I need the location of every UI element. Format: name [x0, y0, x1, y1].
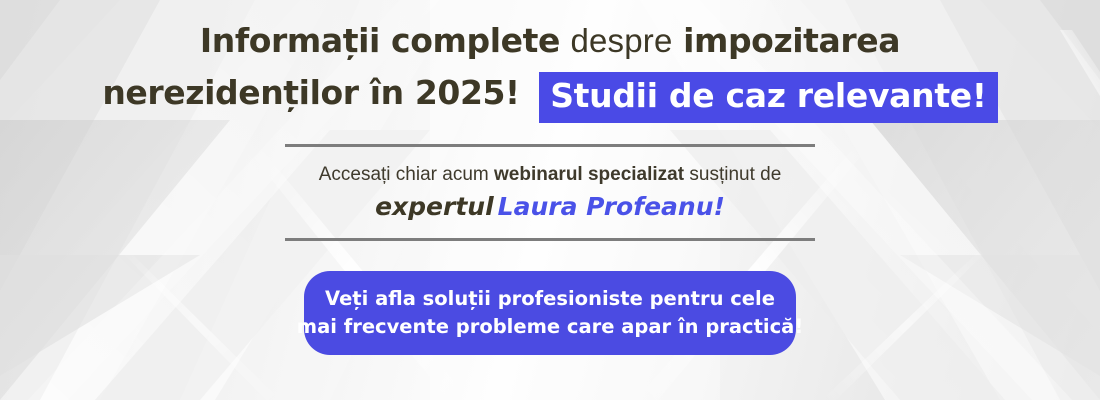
banner-content: Informații complete despre impozitarea n…: [0, 0, 1100, 400]
subtitle-text-bold: webinarul specializat: [494, 164, 684, 185]
promo-banner: Informații complete despre impozitarea n…: [0, 0, 1100, 400]
subtitle-line-2: expertulLaura Profeanu!: [285, 192, 815, 221]
headline-highlight-badge: Studii de caz relevante!: [539, 72, 997, 123]
divider-bottom: [285, 238, 815, 241]
headline-line-2: nerezidenților în 2025! Studii de caz re…: [0, 69, 1100, 120]
headline-bold-informatii: Informații complete: [200, 21, 560, 60]
subtitle-text-post: susținut de: [689, 164, 781, 185]
subtitle-text-pre: Accesați chiar acum: [319, 164, 489, 185]
subtitle-role: expertul: [375, 192, 494, 221]
headline-regular-despre: despre: [570, 22, 672, 59]
headline-bold-nerezidentilor: nerezidenților în 2025!: [102, 73, 519, 112]
divider-top: [285, 144, 815, 147]
subtitle-block: Accesați chiar acum webinarul specializa…: [285, 144, 815, 241]
headline-line-1: Informații complete despre impozitarea: [0, 22, 1100, 61]
subtitle-line-1: Accesați chiar acum webinarul specializa…: [285, 164, 815, 186]
cta-line-1: Veți afla soluții profesioniste pentru c…: [325, 285, 775, 313]
cta-button[interactable]: Veți afla soluții profesioniste pentru c…: [304, 271, 796, 355]
subtitle-expert-name: Laura Profeanu!: [498, 192, 725, 221]
headline: Informații complete despre impozitarea n…: [0, 22, 1100, 120]
headline-bold-impozitarea: impozitarea: [683, 21, 900, 60]
cta-line-2: mai frecvente probleme care apar în prac…: [297, 313, 803, 341]
